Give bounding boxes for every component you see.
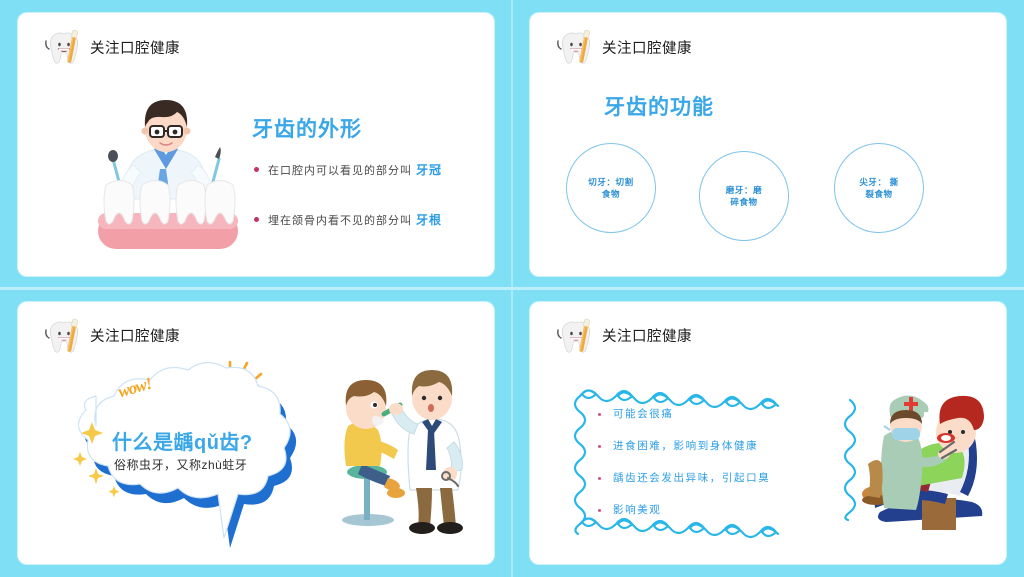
list-item-highlight: 牙冠 bbox=[416, 161, 442, 178]
circle-line-2: 裂食物 bbox=[848, 188, 910, 200]
page-title: 什么是龋qǔ齿? bbox=[112, 426, 253, 455]
brand-header: 关注口腔健康 bbox=[554, 27, 692, 67]
circle-line-2: 碎食物 bbox=[713, 196, 775, 208]
function-circle-canine: 尖牙： 撕 裂食物 bbox=[834, 143, 924, 233]
slide-thumbnail-grid: 关注口腔健康 bbox=[0, 0, 1024, 577]
bullet-dot-icon bbox=[598, 413, 601, 416]
page-subtitle: 俗称虫牙，又称zhù蛀牙 bbox=[114, 456, 247, 473]
brand-header: 关注口腔健康 bbox=[42, 27, 180, 67]
horizontal-divider bbox=[0, 287, 1024, 290]
dentist-examining-boy-illustration bbox=[318, 360, 474, 535]
speech-cloud: wow! 什么是龋qǔ齿? 俗称虫牙，又称zhù蛀牙 bbox=[50, 372, 322, 537]
slide-caries-effects[interactable]: 关注口腔健康 可能会很痛 进食困难，影响到身体健康 bbox=[530, 302, 1006, 565]
bullet-dot-icon bbox=[254, 217, 259, 222]
circle-line-2: 食物 bbox=[580, 188, 642, 200]
brand-header: 关注口腔健康 bbox=[554, 316, 692, 356]
slide-tooth-shape[interactable]: 关注口腔健康 bbox=[18, 13, 494, 276]
list-item: 进食困难，影响到身体健康 bbox=[598, 438, 848, 453]
brand-label: 关注口腔健康 bbox=[90, 37, 180, 58]
slide-what-is-caries[interactable]: 关注口腔健康 wo bbox=[18, 302, 494, 565]
list-item-text: 进食困难，影响到身体健康 bbox=[613, 438, 758, 453]
bullet-dot-icon bbox=[254, 167, 259, 172]
slide-tooth-function[interactable]: 关注口腔健康 牙齿的功能 切牙：切割 食物 磨牙：磨 碎食物 尖牙： 撕 裂食物 bbox=[530, 13, 1006, 276]
list-item-text: 影响美观 bbox=[613, 502, 661, 517]
bullet-dot-icon bbox=[598, 445, 601, 448]
brand-header: 关注口腔健康 bbox=[42, 316, 180, 356]
tooth-toothbrush-icon bbox=[554, 316, 598, 356]
bullet-list: 可能会很痛 进食困难，影响到身体健康 龋齿还会发出异味，引起口臭 影响美观 bbox=[598, 406, 848, 534]
bullet-dot-icon bbox=[598, 509, 601, 512]
list-item-text: 可能会很痛 bbox=[613, 406, 674, 421]
dentist-with-teeth-and-gums-illustration bbox=[76, 85, 256, 260]
bullet-list: 在口腔内可以看见的部分叫 牙冠 埋在颌骨内看不见的部分叫 牙根 bbox=[254, 161, 484, 261]
circle-line-1: 磨牙：磨 bbox=[713, 184, 775, 196]
brand-label: 关注口腔健康 bbox=[602, 325, 692, 346]
list-item: 埋在颌骨内看不见的部分叫 牙根 bbox=[254, 211, 484, 228]
list-item: 影响美观 bbox=[598, 502, 848, 517]
function-circle-molar: 磨牙：磨 碎食物 bbox=[699, 151, 789, 241]
page-title: 牙齿的功能 bbox=[604, 91, 714, 121]
list-item: 可能会很痛 bbox=[598, 406, 848, 421]
circle-line-1: 尖牙： 撕 bbox=[848, 176, 910, 188]
list-item-text: 埋在颌骨内看不见的部分叫 bbox=[268, 212, 412, 228]
brand-label: 关注口腔健康 bbox=[90, 325, 180, 346]
page-title: 牙齿的外形 bbox=[252, 113, 362, 143]
tooth-toothbrush-icon bbox=[42, 27, 86, 67]
tooth-toothbrush-icon bbox=[42, 316, 86, 356]
bullet-dot-icon bbox=[598, 477, 601, 480]
list-item: 在口腔内可以看见的部分叫 牙冠 bbox=[254, 161, 484, 178]
list-item-text: 龋齿还会发出异味，引起口臭 bbox=[613, 470, 770, 485]
list-item-text: 在口腔内可以看见的部分叫 bbox=[268, 162, 412, 178]
list-item: 龋齿还会发出异味，引起口臭 bbox=[598, 470, 848, 485]
function-circle-incisor: 切牙：切割 食物 bbox=[566, 143, 656, 233]
patient-in-dental-chair-illustration bbox=[860, 380, 1006, 540]
tooth-toothbrush-icon bbox=[554, 27, 598, 67]
function-circle-group: 切牙：切割 食物 磨牙：磨 碎食物 尖牙： 撕 裂食物 bbox=[566, 134, 986, 239]
circle-line-1: 切牙：切割 bbox=[580, 176, 642, 188]
brand-label: 关注口腔健康 bbox=[602, 37, 692, 58]
list-item-highlight: 牙根 bbox=[416, 211, 442, 228]
